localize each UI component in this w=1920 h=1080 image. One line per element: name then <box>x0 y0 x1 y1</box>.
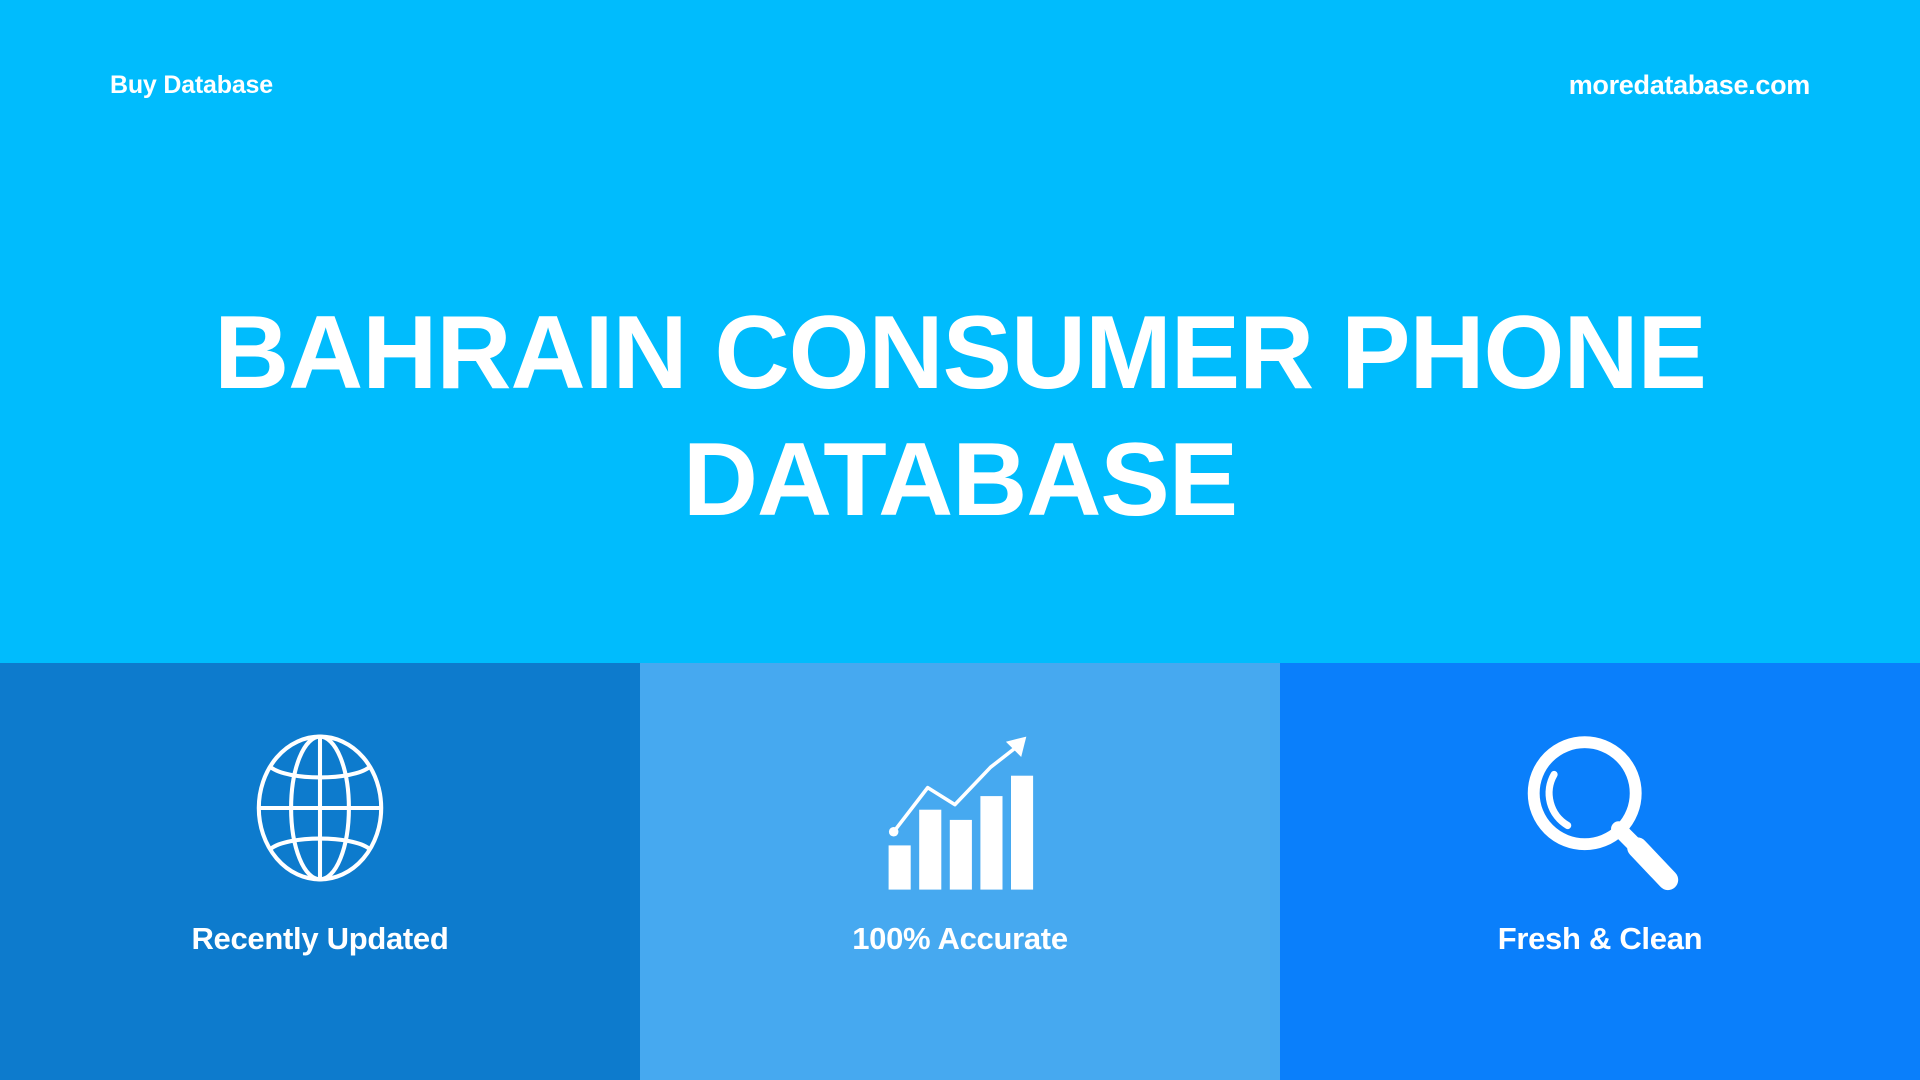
feature-card-fresh-clean: Fresh & Clean <box>1280 663 1920 1080</box>
feature-card-recently-updated: Recently Updated <box>0 663 640 1080</box>
feature-label: 100% Accurate <box>852 921 1068 957</box>
promo-banner: Buy Database moredatabase.com BAHRAIN CO… <box>0 0 1920 1080</box>
bar-chart-growth-icon <box>875 723 1045 893</box>
brand-label: Buy Database <box>110 71 273 100</box>
topbar: Buy Database moredatabase.com <box>0 0 1920 170</box>
feature-strip: Recently Updated 100% Acc <box>0 663 1920 1080</box>
globe-icon <box>235 723 405 893</box>
feature-label: Fresh & Clean <box>1498 921 1703 957</box>
page-title: BAHRAIN CONSUMER PHONE DATABASE <box>100 290 1820 544</box>
feature-card-accurate: 100% Accurate <box>640 663 1280 1080</box>
site-url-label: moredatabase.com <box>1569 70 1810 101</box>
hero-section: BAHRAIN CONSUMER PHONE DATABASE <box>0 170 1920 663</box>
magnifier-icon <box>1515 723 1685 893</box>
feature-label: Recently Updated <box>191 921 448 957</box>
